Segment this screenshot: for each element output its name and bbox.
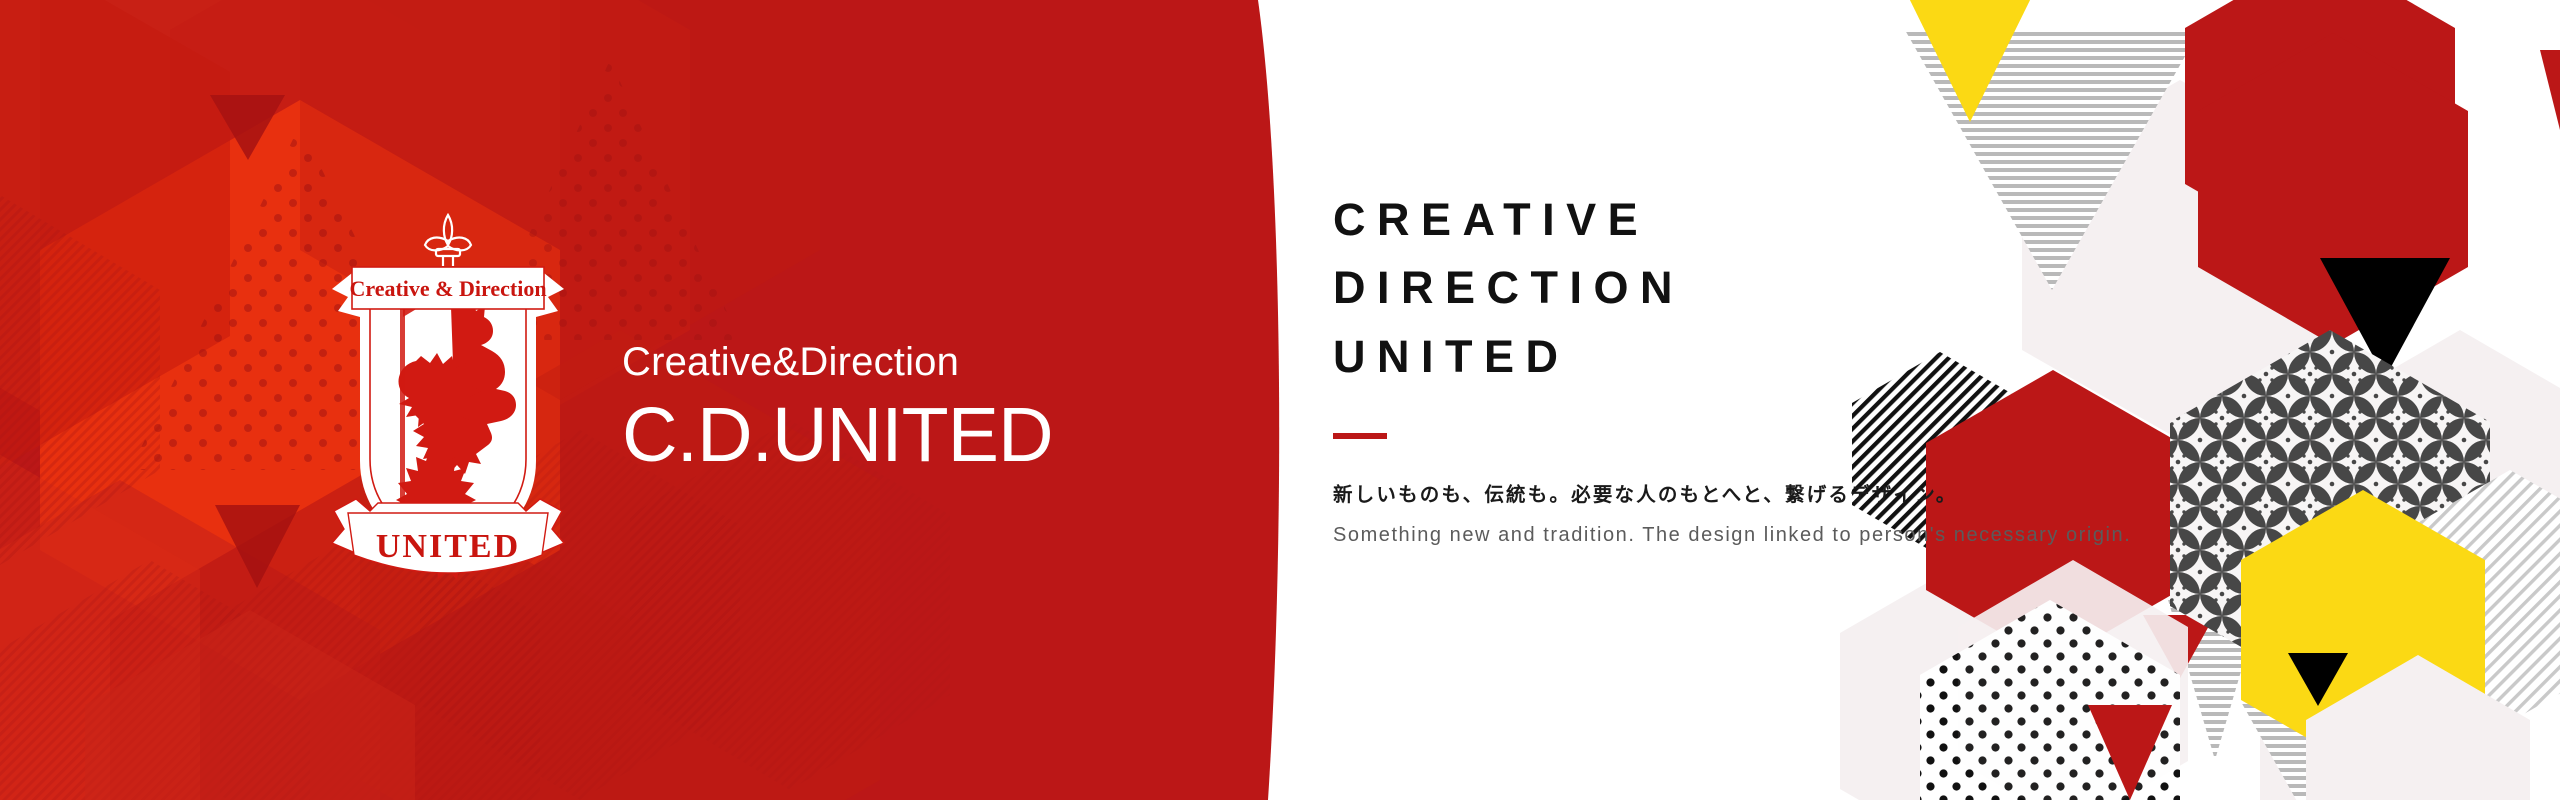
wordmark-subtitle: Creative&Direction <box>622 342 1053 382</box>
crest-bottom-ribbon: UNITED <box>332 499 564 573</box>
crest-banner-text: Creative & Direction <box>349 276 546 301</box>
headline-line-2: DIRECTION <box>1333 254 2131 322</box>
right-content: CREATIVE DIRECTION UNITED 新しいものも、伝統も。必要な… <box>1333 186 2131 550</box>
wordmark: Creative&Direction C.D.UNITED <box>622 324 1053 478</box>
logo-lockup: Creative & Direction 2001 UNITED Creativ… <box>330 196 1110 606</box>
club-crest: Creative & Direction 2001 UNITED <box>330 211 566 591</box>
headline-line-1: CREATIVE <box>1333 186 2131 254</box>
crest-ribbon-text: UNITED <box>376 528 520 565</box>
lion-flag-pole <box>400 295 405 525</box>
accent-rule <box>1333 433 1387 439</box>
crest-top-banner: Creative & Direction <box>332 267 564 317</box>
fleur-de-lis-icon <box>425 215 471 266</box>
headline-line-3: UNITED <box>1333 323 2131 391</box>
tagline-japanese: 新しいものも、伝統も。必要な人のもとへと、繋げるデザイン。 <box>1333 481 2131 508</box>
wordmark-title: C.D.UNITED <box>622 392 1053 478</box>
tagline-english: Something new and tradition. The design … <box>1333 521 2131 550</box>
hero-banner: Creative & Direction 2001 UNITED Creativ… <box>0 0 2560 800</box>
